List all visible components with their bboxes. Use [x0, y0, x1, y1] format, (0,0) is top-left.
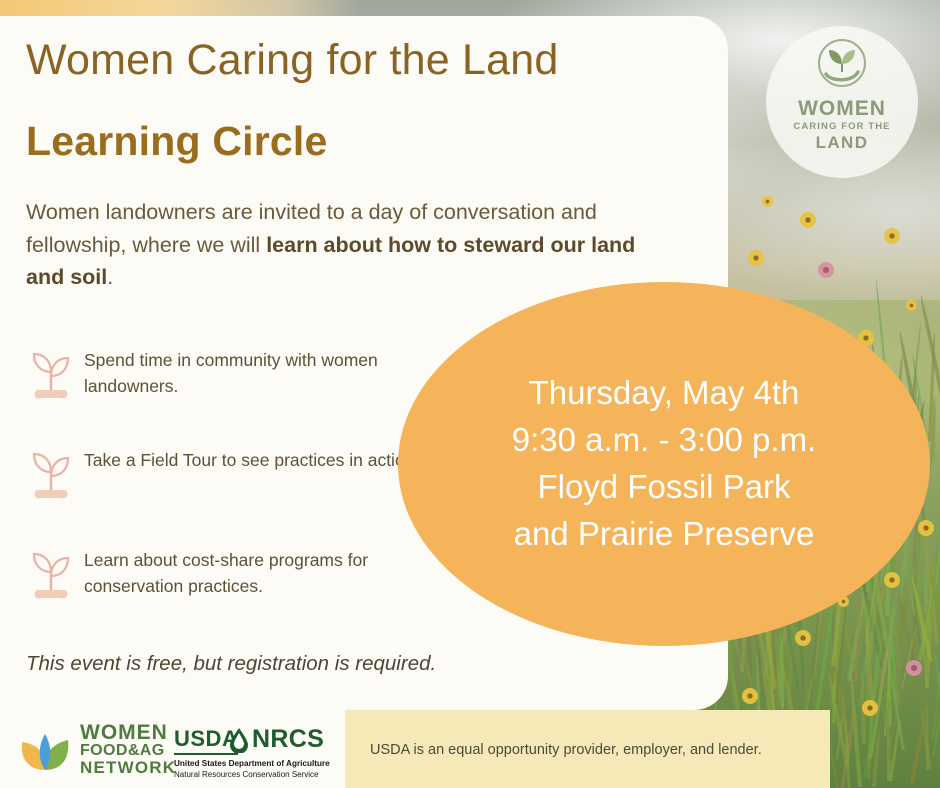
wfan-logo-line3: NETWORK — [80, 759, 176, 776]
event-date: Thursday, May 4th — [529, 370, 800, 417]
wfan-logo-text: WOMEN FOOD&AG NETWORK — [80, 722, 176, 776]
sprout-icon — [28, 342, 74, 400]
wcl-logo-line1: WOMEN — [798, 98, 886, 120]
equal-opportunity-statement: USDA is an equal opportunity provider, e… — [370, 742, 762, 758]
usda-department-line: United States Department of Agriculture — [174, 759, 334, 770]
event-details-callout: Thursday, May 4th 9:30 a.m. - 3:00 p.m. … — [398, 282, 930, 646]
nrcs-wordmark: NRCS — [252, 725, 324, 754]
wcl-logo-line2: CARING FOR THE — [793, 120, 890, 134]
nrcs-logo: NRCS — [228, 725, 324, 754]
wfan-logo: WOMEN FOOD&AG NETWORK — [14, 716, 176, 782]
wfan-logo-line1: WOMEN — [80, 722, 176, 743]
wcl-logo-line3: LAND — [816, 134, 869, 152]
benefits-list: Spend time in community with women lando… — [22, 340, 442, 640]
registration-note: This event is free, but registration is … — [26, 652, 436, 676]
intro-paragraph: Women landowners are invited to a day of… — [26, 196, 666, 294]
list-item: Take a Field Tour to see practices in ac… — [22, 440, 442, 516]
page-subtitle: Learning Circle — [26, 118, 327, 165]
list-item-label: Spend time in community with women lando… — [84, 340, 442, 400]
list-item-label: Learn about cost-share programs for cons… — [84, 540, 442, 600]
event-location-line1: Floyd Fossil Park — [537, 464, 790, 511]
wfan-logo-line2: FOOD&AG — [80, 743, 176, 759]
event-time: 9:30 a.m. - 3:00 p.m. — [512, 417, 816, 464]
usda-agency-line: Natural Resources Conservation Service — [174, 770, 334, 780]
list-item: Spend time in community with women lando… — [22, 340, 442, 416]
list-item: Learn about cost-share programs for cons… — [22, 540, 442, 616]
intro-text-end: . — [107, 265, 113, 289]
poster-canvas: Women Caring for the Land Learning Circl… — [0, 0, 940, 788]
event-location-line2: and Prairie Preserve — [514, 511, 815, 558]
sprout-icon — [28, 442, 74, 500]
sprout-icon — [28, 542, 74, 600]
women-caring-for-the-land-logo: WOMEN CARING FOR THE LAND — [766, 26, 918, 178]
list-item-label: Take a Field Tour to see practices in ac… — [84, 440, 442, 474]
hand-leaf-icon — [809, 38, 875, 96]
page-title: Women Caring for the Land — [26, 36, 558, 85]
wfan-leaf-icon — [14, 720, 76, 778]
water-drop-icon — [228, 727, 250, 753]
